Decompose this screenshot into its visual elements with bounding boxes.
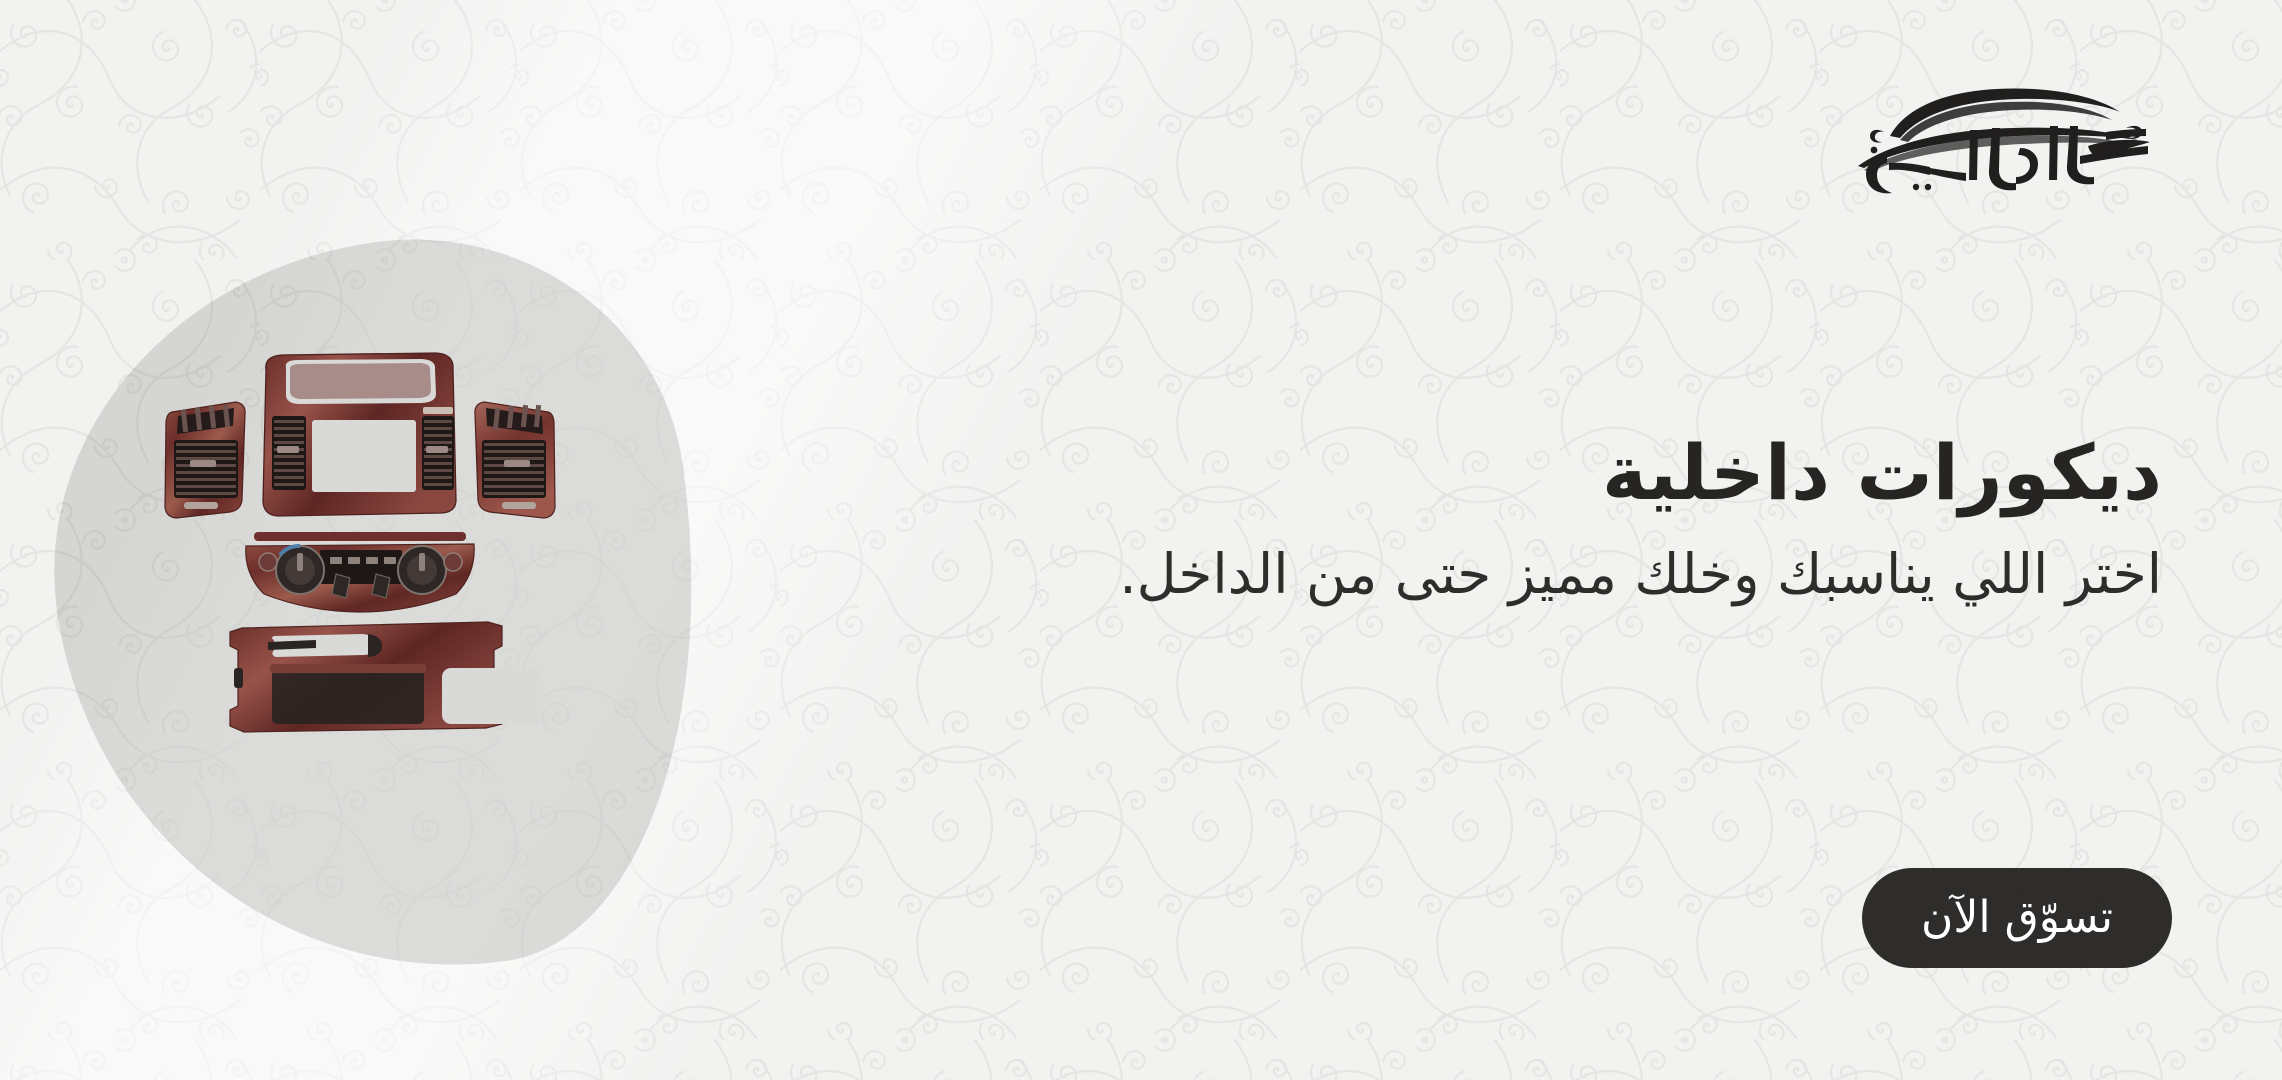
- center-dash-bezel-part: [263, 353, 456, 516]
- promo-banner: ديكورات داخلية اختر اللي يناسبك وخلك ممي…: [0, 0, 2282, 1080]
- product-image-dashboard-trim-kit: [150, 350, 570, 740]
- left-air-vent-part: [165, 402, 245, 518]
- brand-logo[interactable]: [1844, 70, 2164, 195]
- shop-now-button[interactable]: تسوّق الآن: [1862, 868, 2172, 968]
- right-air-vent-part: [475, 402, 555, 518]
- center-console-trim-part: [230, 622, 542, 732]
- climate-control-panel-part: [246, 532, 474, 612]
- page-subtitle: اختر اللي يناسبك وخلك مميز حتى من الداخل…: [822, 541, 2162, 607]
- copy-block: ديكورات داخلية اختر اللي يناسبك وخلك ممي…: [822, 430, 2162, 607]
- page-title: ديكورات داخلية: [822, 430, 2162, 515]
